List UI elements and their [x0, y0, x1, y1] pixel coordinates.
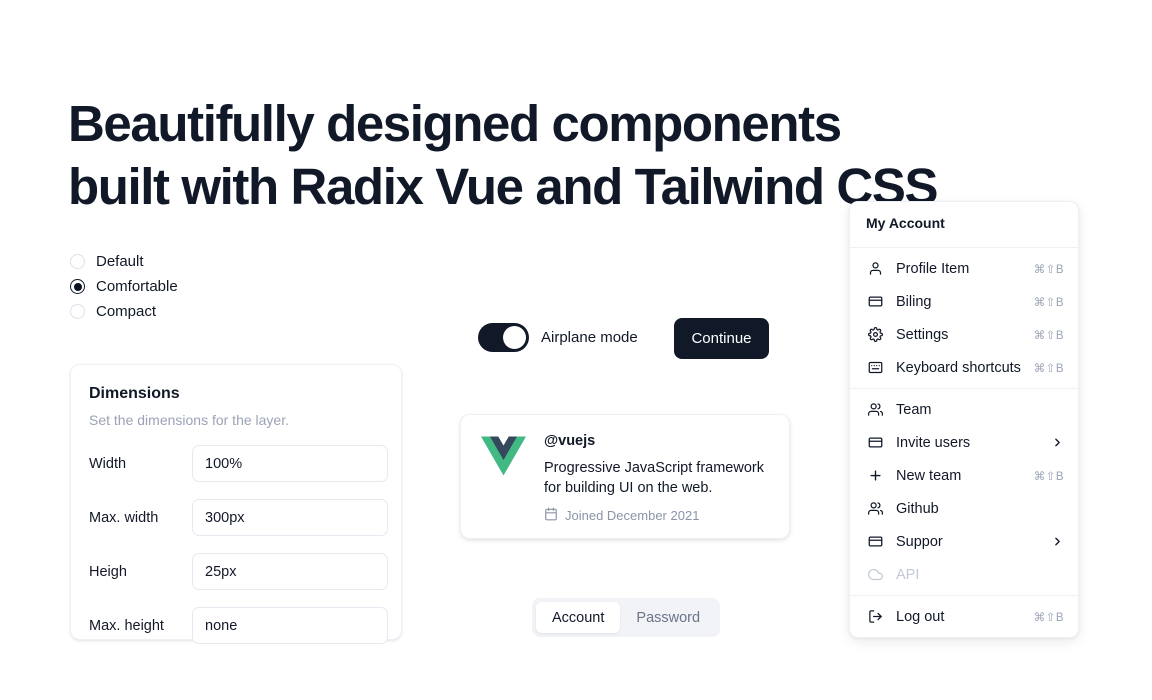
- menu-separator: [850, 595, 1078, 596]
- cloud-icon: [866, 567, 884, 582]
- menu-header: My Account: [850, 202, 1078, 243]
- airplane-mode-switch[interactable]: [478, 323, 529, 352]
- menu-item-invite-users-label: Invite users: [884, 435, 1051, 451]
- users-icon: [866, 402, 884, 417]
- menu-item-settings-label: Settings: [884, 327, 1034, 343]
- radio-label-default: Default: [96, 253, 144, 270]
- label-height: Heigh: [89, 564, 192, 580]
- menu-item-keyboard-shortcuts[interactable]: Keyboard shortcuts ⌘⇧B: [850, 351, 1078, 384]
- tab-account[interactable]: Account: [536, 602, 620, 633]
- menu-item-profile-shortcut: ⌘⇧B: [1034, 262, 1064, 276]
- menu-separator: [850, 247, 1078, 248]
- menu-item-new-team-shortcut: ⌘⇧B: [1034, 469, 1064, 483]
- menu-item-api: API: [850, 558, 1078, 591]
- radio-label-comfortable: Comfortable: [96, 278, 178, 295]
- vue-description: Progressive JavaScript framework for bui…: [544, 458, 784, 498]
- input-height[interactable]: [192, 553, 388, 590]
- vue-joined-text: Joined December 2021: [565, 508, 699, 523]
- radio-option-comfortable[interactable]: Comfortable: [70, 274, 300, 299]
- menu-item-profile[interactable]: Profile Item ⌘⇧B: [850, 252, 1078, 285]
- menu-item-log-out-label: Log out: [884, 609, 1034, 625]
- vue-handle: @vuejs: [544, 433, 784, 449]
- page-title-line-1: Beautifully designed components: [68, 92, 1048, 155]
- label-max-height: Max. height: [89, 618, 192, 634]
- radio-indicator-comfortable[interactable]: [70, 279, 85, 294]
- my-account-menu: My Account Profile Item ⌘⇧B Biling ⌘⇧B S…: [849, 201, 1079, 638]
- menu-item-team-label: Team: [884, 402, 1064, 418]
- menu-item-team[interactable]: Team: [850, 393, 1078, 426]
- plus-icon: [866, 468, 884, 483]
- user-icon: [866, 261, 884, 276]
- label-max-width: Max. width: [89, 510, 192, 526]
- menu-item-api-label: API: [884, 567, 1064, 583]
- credit-card-icon: [866, 534, 884, 549]
- density-radio-group: Default Comfortable Compact: [70, 249, 300, 324]
- dimensions-row-max-width: Max. width: [89, 499, 383, 536]
- page-title: Beautifully designed components built wi…: [68, 92, 1048, 218]
- menu-item-settings[interactable]: Settings ⌘⇧B: [850, 318, 1078, 351]
- input-max-width[interactable]: [192, 499, 388, 536]
- dimensions-row-max-height: Max. height: [89, 607, 383, 644]
- credit-card-icon: [866, 435, 884, 450]
- menu-item-log-out-shortcut: ⌘⇧B: [1034, 610, 1064, 624]
- dimensions-subtitle: Set the dimensions for the layer.: [89, 412, 383, 428]
- menu-item-new-team[interactable]: New team ⌘⇧B: [850, 459, 1078, 492]
- vue-joined-row: Joined December 2021: [544, 507, 784, 524]
- switch-knob: [503, 326, 526, 349]
- vue-hover-card-body: @vuejs Progressive JavaScript framework …: [526, 433, 784, 538]
- dimensions-card: Dimensions Set the dimensions for the la…: [70, 364, 402, 640]
- menu-item-settings-shortcut: ⌘⇧B: [1034, 328, 1064, 342]
- menu-item-billing-label: Biling: [884, 294, 1034, 310]
- menu-separator: [850, 388, 1078, 389]
- logout-icon: [866, 609, 884, 624]
- radio-label-compact: Compact: [96, 303, 156, 320]
- radio-indicator-default[interactable]: [70, 254, 85, 269]
- menu-item-support-label: Suppor: [884, 534, 1051, 550]
- tab-password[interactable]: Password: [620, 602, 716, 633]
- airplane-mode-group: Airplane mode: [478, 323, 638, 352]
- radio-option-compact[interactable]: Compact: [70, 299, 300, 324]
- continue-button[interactable]: Continue: [674, 318, 769, 359]
- menu-item-support[interactable]: Suppor: [850, 525, 1078, 558]
- menu-item-billing[interactable]: Biling ⌘⇧B: [850, 285, 1078, 318]
- airplane-mode-label: Airplane mode: [541, 329, 638, 346]
- keyboard-icon: [866, 360, 884, 375]
- menu-item-github[interactable]: Github: [850, 492, 1078, 525]
- input-max-height[interactable]: [192, 607, 388, 644]
- menu-item-invite-users[interactable]: Invite users: [850, 426, 1078, 459]
- settings-tabs: Account Password: [532, 598, 720, 637]
- chevron-right-icon: [1051, 535, 1064, 548]
- gear-icon: [866, 327, 884, 342]
- menu-item-new-team-label: New team: [884, 468, 1034, 484]
- menu-item-keyboard-shortcuts-shortcut: ⌘⇧B: [1034, 361, 1064, 375]
- credit-card-icon: [866, 294, 884, 309]
- menu-item-github-label: Github: [884, 501, 1064, 517]
- menu-item-billing-shortcut: ⌘⇧B: [1034, 295, 1064, 309]
- radio-option-default[interactable]: Default: [70, 249, 300, 274]
- calendar-icon: [544, 507, 558, 524]
- label-width: Width: [89, 456, 192, 472]
- input-width[interactable]: [192, 445, 388, 482]
- dimensions-row-height: Heigh: [89, 553, 383, 590]
- menu-item-keyboard-shortcuts-label: Keyboard shortcuts: [884, 360, 1034, 376]
- menu-item-profile-label: Profile Item: [884, 261, 1034, 277]
- menu-item-log-out[interactable]: Log out ⌘⇧B: [850, 600, 1078, 633]
- vue-logo-icon: [481, 433, 526, 538]
- dimensions-title: Dimensions: [89, 385, 383, 403]
- users-icon: [866, 501, 884, 516]
- vue-hover-card: @vuejs Progressive JavaScript framework …: [460, 414, 790, 539]
- radio-indicator-compact[interactable]: [70, 304, 85, 319]
- chevron-right-icon: [1051, 436, 1064, 449]
- dimensions-row-width: Width: [89, 445, 383, 482]
